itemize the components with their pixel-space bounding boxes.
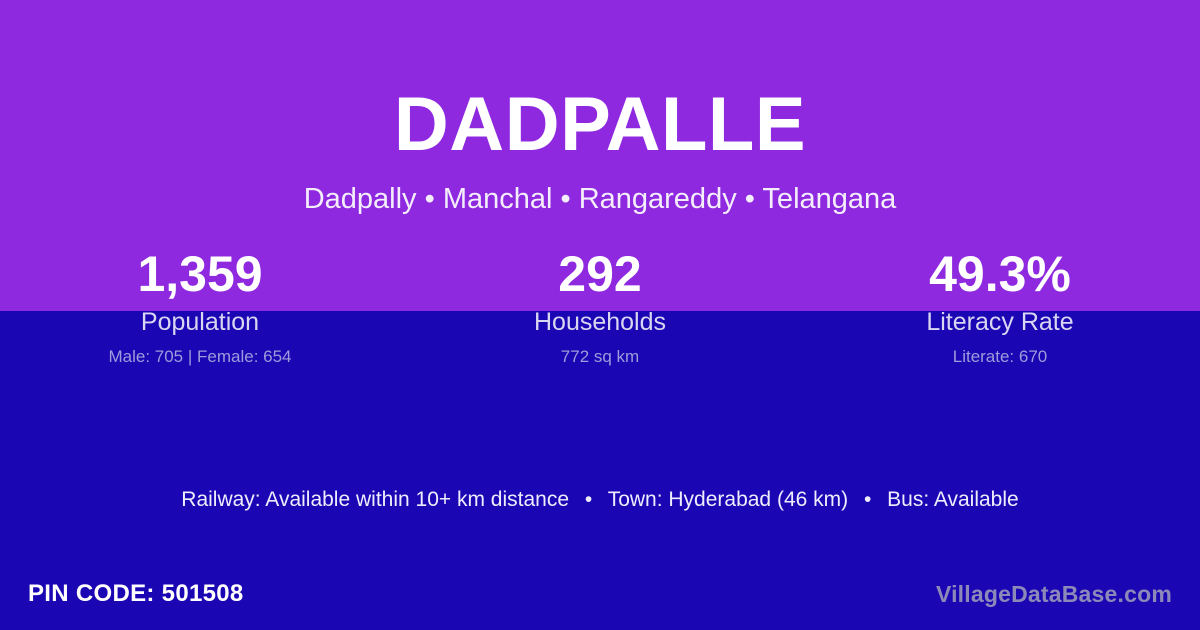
footer: PIN CODE: 501508 VillageDataBase.com <box>0 558 1200 630</box>
facility-separator-2: • <box>854 485 881 515</box>
brand-watermark: VillageDataBase.com <box>936 579 1172 609</box>
stat-label-households: Households <box>400 307 800 337</box>
stat-sub-population: Male: 705 | Female: 654 <box>0 346 400 367</box>
stat-households: 292 Households 772 sq km <box>400 243 800 367</box>
stat-value-literacy-rate: 49.3% <box>800 243 1200 305</box>
stat-value-population: 1,359 <box>0 243 400 305</box>
stat-literacy-rate: 49.3% Literacy Rate Literate: 670 <box>800 243 1200 367</box>
facility-town: Town: Hyderabad (46 km) <box>608 488 848 511</box>
stat-sub-literacy-rate: Literate: 670 <box>800 346 1200 367</box>
stat-sub-households: 772 sq km <box>400 346 800 367</box>
facilities-line: Railway: Available within 10+ km distanc… <box>0 485 1200 515</box>
stat-population: 1,359 Population Male: 705 | Female: 654 <box>0 243 400 367</box>
village-info-card: DADPALLE Dadpally • Manchal • Rangareddy… <box>0 0 1200 630</box>
stat-label-population: Population <box>0 307 400 337</box>
breadcrumb: Dadpally • Manchal • Rangareddy • Telang… <box>0 180 1200 218</box>
pin-code: PIN CODE: 501508 <box>28 579 244 609</box>
facility-railway: Railway: Available within 10+ km distanc… <box>181 488 569 511</box>
facility-bus: Bus: Available <box>887 488 1019 511</box>
stat-value-households: 292 <box>400 243 800 305</box>
page-title: DADPALLE <box>0 82 1200 168</box>
facility-separator-1: • <box>575 485 602 515</box>
stat-label-literacy-rate: Literacy Rate <box>800 307 1200 337</box>
stats-row: 1,359 Population Male: 705 | Female: 654… <box>0 243 1200 367</box>
